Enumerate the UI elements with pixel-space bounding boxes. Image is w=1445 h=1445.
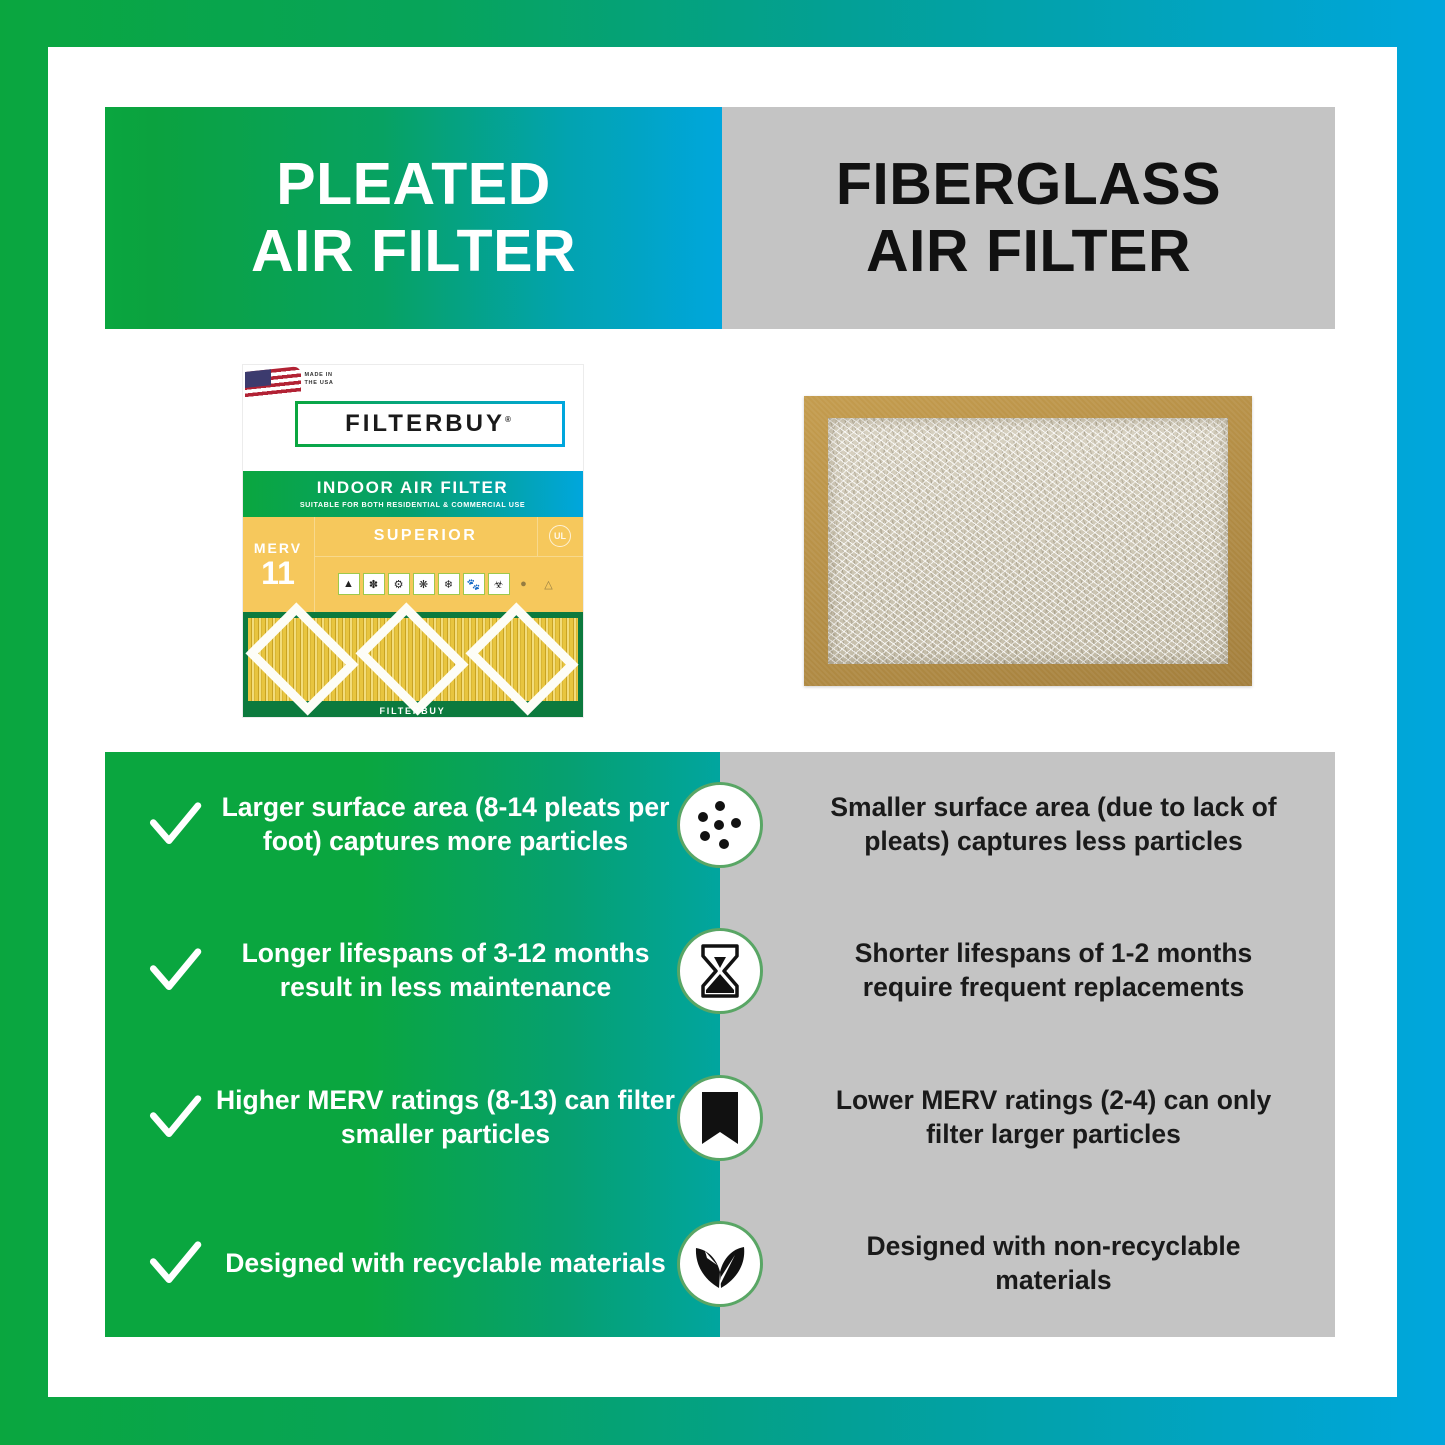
checkmark-icon [143,796,207,854]
checkmark-icon [143,942,207,1000]
header-row: PLEATED AIR FILTER FIBERGLASS AIR FILTER [105,107,1335,329]
header-fiberglass-title: FIBERGLASS AIR FILTER [836,151,1221,284]
particles-dots [694,799,746,851]
row-left-pleated: Longer lifespans of 3-12 months result i… [105,898,720,1044]
band-title: INDOOR AIR FILTER [317,478,509,498]
feature-icon-row: ▲ ✽ ⚙ ❋ ❄ 🐾 ☣ ● △ [315,557,583,612]
row-right-fiberglass: Smaller surface area (due to lack of ple… [720,752,1335,898]
fiberglass-product-cell [720,329,1335,752]
hourglass-icon [677,928,763,1014]
merv-label: MERV [254,540,302,556]
filterbuy-logo: FILTERBUY® [295,401,565,447]
row-left-pleated: Larger surface area (8-14 pleats per foo… [105,752,720,898]
header-pleated-line1: PLEATED [251,151,576,218]
checkmark-icon [143,1235,207,1293]
pollen-icon: ❄ [438,573,460,595]
made-in-usa-text: MADE IN THE USA [305,371,334,388]
comparison-row: Higher MERV ratings (8-13) can filter sm… [105,1045,1335,1191]
header-fiberglass-line1: FIBERGLASS [836,151,1221,218]
fiberglass-mesh [828,418,1228,664]
support-diamond [355,602,468,715]
support-diamond [465,602,578,715]
comparison-rows: Larger surface area (8-14 pleats per foo… [105,752,1335,1337]
leaf-icon [677,1221,763,1307]
dust-icon: ▲ [338,573,360,595]
row-left-pleated: Designed with recyclable materials [105,1191,720,1337]
row-left-pleated: Higher MERV ratings (8-13) can filter sm… [105,1045,720,1191]
row-right-fiberglass: Lower MERV ratings (2-4) can only filter… [720,1045,1335,1191]
row-left-text: Designed with recyclable materials [207,1247,694,1281]
band-subtitle: SUITABLE FOR BOTH RESIDENTIAL & COMMERCI… [300,500,525,509]
filterbuy-logo-text: FILTERBUY® [345,410,514,438]
row-left-text: Higher MERV ratings (8-13) can filter sm… [207,1084,694,1152]
merv-right-column: SUPERIOR UL ▲ ✽ ⚙ ❋ ❄ 🐾 ☣ [315,517,583,612]
fiberglass-filter-image [804,396,1252,686]
mold-icon: ❋ [413,573,435,595]
smoke-icon: ☣ [488,573,510,595]
row-right-text: Shorter lifespans of 1-2 months require … [810,937,1297,1005]
particle-icon-faded: ● [513,573,535,595]
row-left-text: Larger surface area (8-14 pleats per foo… [207,791,694,859]
row-right-text: Lower MERV ratings (2-4) can only filter… [810,1084,1297,1152]
comparison-card: PLEATED AIR FILTER FIBERGLASS AIR FILTER… [105,107,1335,1337]
tier-label: SUPERIOR [315,517,537,556]
product-row: MADE IN THE USA FILTERBUY® INDOOR AIR FI… [105,329,1335,752]
comparison-row: Designed with recyclable materials Desig… [105,1191,1335,1337]
support-diamond [245,602,358,715]
comparison-row: Larger surface area (8-14 pleats per foo… [105,752,1335,898]
made-in-line2: THE USA [305,379,334,387]
filterbox-spec-area: MERV 11 SUPERIOR UL ▲ ✽ ⚙ [243,517,583,612]
filterbox-bottom-brand: FILTERBUY [243,706,583,716]
row-right-fiberglass: Shorter lifespans of 1-2 months require … [720,898,1335,1044]
filterbox-band: INDOOR AIR FILTER SUITABLE FOR BOTH RESI… [243,471,583,517]
header-pleated-title: PLEATED AIR FILTER [251,151,576,284]
merv-block: MERV 11 [243,517,315,612]
row-right-text: Smaller surface area (due to lack of ple… [810,791,1297,859]
virus-icon: ⚙ [388,573,410,595]
pleated-media-area: FILTERBUY [243,612,583,717]
made-in-line1: MADE IN [305,371,334,379]
row-left-text: Longer lifespans of 3-12 months result i… [207,937,694,1005]
row-right-text: Designed with non-recyclable materials [810,1230,1297,1298]
bookmark-icon [677,1075,763,1161]
bacteria-icon: ✽ [363,573,385,595]
merv-value: 11 [261,557,295,589]
pet-dander-icon: 🐾 [463,573,485,595]
support-grid [248,618,578,701]
particles-icon [677,782,763,868]
row-right-fiberglass: Designed with non-recyclable materials [720,1191,1335,1337]
pleated-product-cell: MADE IN THE USA FILTERBUY® INDOOR AIR FI… [105,329,720,752]
header-fiberglass-line2: AIR FILTER [836,218,1221,285]
filterbox-top: MADE IN THE USA FILTERBUY® [243,365,583,471]
certification-seal: UL [537,517,583,556]
odor-icon-faded: △ [538,573,560,595]
tier-row: SUPERIOR UL [315,517,583,557]
checkmark-icon [143,1089,207,1147]
comparison-row: Longer lifespans of 3-12 months result i… [105,898,1335,1044]
header-fiberglass: FIBERGLASS AIR FILTER [722,107,1335,329]
usa-flag-icon [245,366,301,402]
seal-text: UL [549,525,571,547]
header-pleated: PLEATED AIR FILTER [105,107,722,329]
pleated-filter-image: MADE IN THE USA FILTERBUY® INDOOR AIR FI… [243,365,583,717]
header-pleated-line2: AIR FILTER [251,218,576,285]
